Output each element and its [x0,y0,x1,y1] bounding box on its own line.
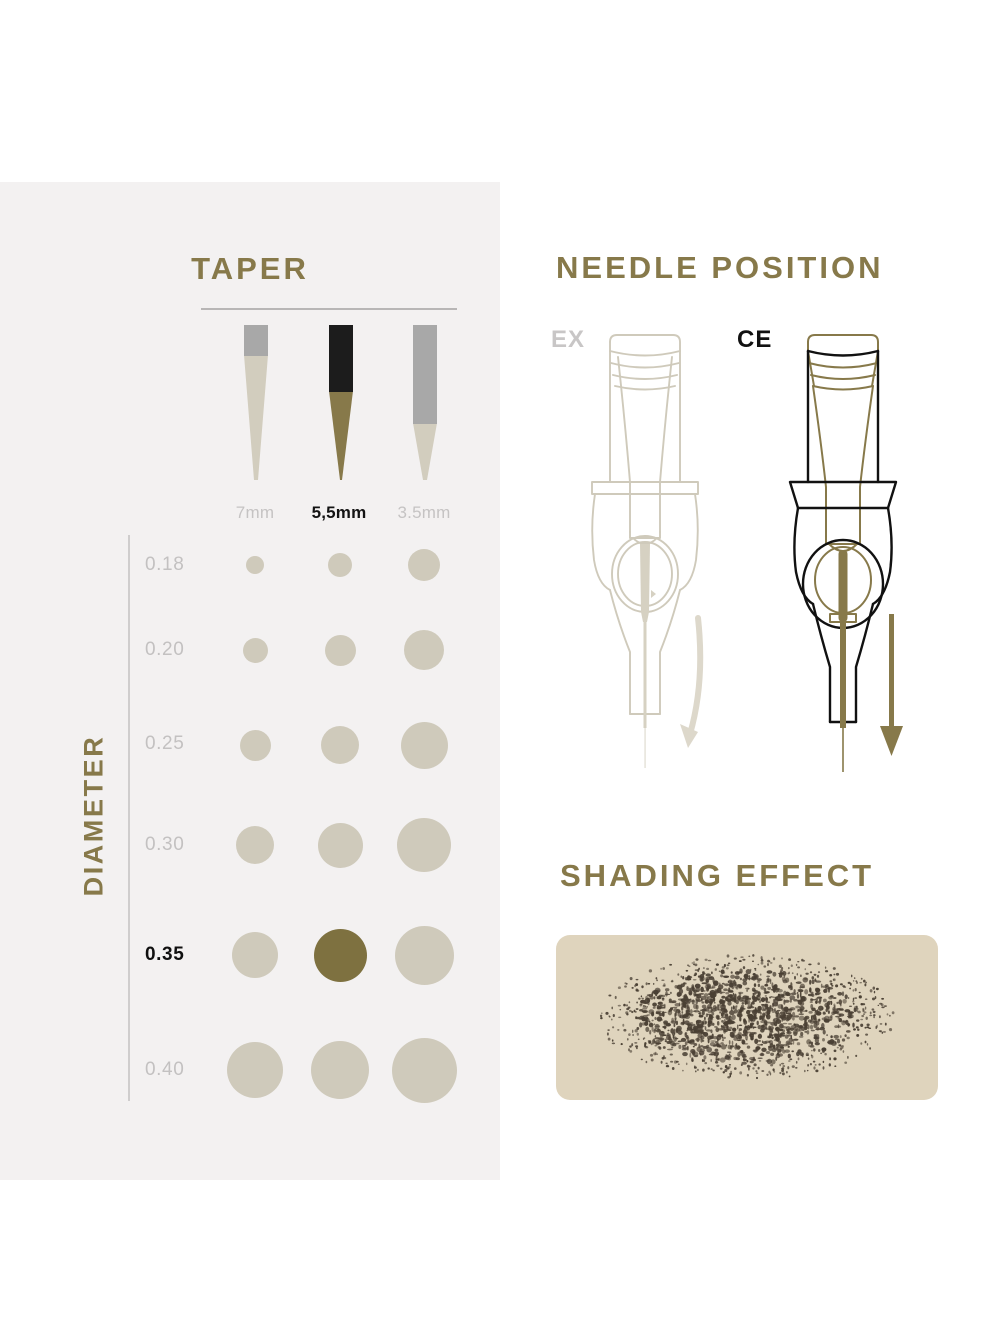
taper-column-header-35mm: 3.5mm [382,503,466,523]
diameter-row-label-025: 0.25 [145,733,217,755]
shading-effect-swatch [556,935,938,1100]
diameter-dot-018-0 [246,556,264,574]
taper-column-header-7mm: 7mm [213,503,297,523]
diameter-dot-030-1 [318,823,363,868]
diameter-dot-020-2 [404,630,444,670]
arrow-ex-icon [680,618,700,748]
taper-needle-diagrams [200,325,470,485]
cartridge-diagram-ex [570,322,720,782]
taper-needle-55mm [329,325,353,480]
diameter-dot-035-0 [232,932,278,978]
diameter-row-label-020: 0.20 [145,639,217,661]
taper-column-header-55mm: 5,5mm [297,503,381,523]
diameter-axis-line [128,535,130,1101]
diameter-dot-025-1 [321,726,359,764]
shading-speckle-pattern [556,935,938,1100]
diameter-dot-030-0 [236,826,274,864]
taper-divider-rule [201,308,457,310]
diameter-dot-018-1 [328,553,352,577]
diameter-dot-020-1 [325,635,356,666]
diameter-dot-035-1 [314,929,367,982]
taper-needle-35mm [413,325,437,480]
diameter-row-label-030: 0.30 [145,834,217,856]
diameter-dot-018-2 [408,549,440,581]
diameter-axis-label: DIAMETER [79,701,110,931]
needle-position-section-title: NEEDLE POSITION [556,250,883,286]
needle-shaft-ce [839,550,848,772]
diameter-row-label-018: 0.18 [145,554,217,576]
needle-shaft-ex [640,544,656,768]
diameter-row-label-040: 0.40 [145,1059,217,1081]
shading-effect-section-title: SHADING EFFECT [560,858,874,894]
taper-needle-7mm [244,325,268,480]
diameter-dot-025-0 [240,730,271,761]
diameter-dot-040-2 [392,1038,457,1103]
diameter-dot-020-0 [243,638,268,663]
infographic-root: TAPER 7mm 5,5mm 3.5mm DIAMETER 0.18 0.20… [0,0,1000,1333]
diameter-dot-025-2 [401,722,448,769]
diameter-row-label-035: 0.35 [145,944,217,966]
cartridge-diagram-ce [768,322,918,782]
diameter-dot-035-2 [395,926,454,985]
arrow-ce-icon [880,614,903,756]
diameter-dot-040-0 [227,1042,283,1098]
taper-section-title: TAPER [0,251,500,287]
diameter-dot-040-1 [311,1041,369,1099]
diameter-dot-030-2 [397,818,451,872]
